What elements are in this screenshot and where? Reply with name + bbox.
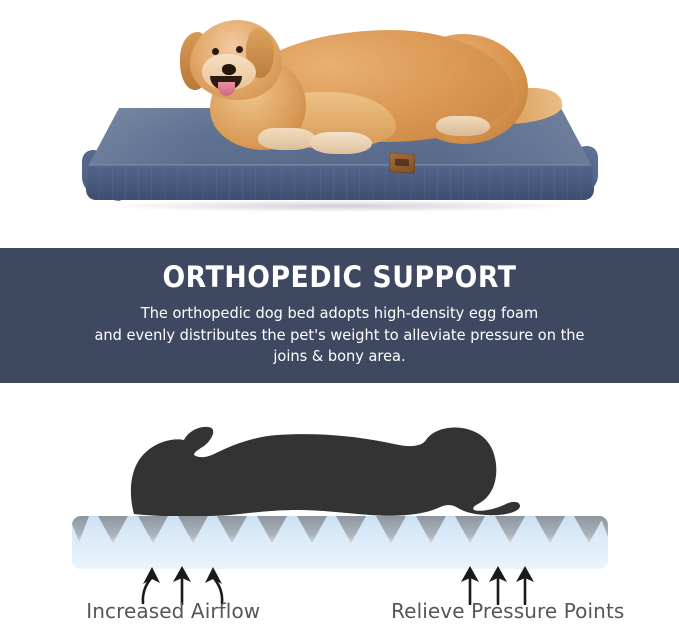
label-relieve-pressure-points: Relieve Pressure Points	[341, 599, 679, 631]
dog-silhouette-icon	[122, 418, 562, 518]
product-photo-section	[0, 0, 679, 248]
banner-line-1: The orthopedic dog bed adopts high-densi…	[62, 303, 618, 325]
orthopedic-support-banner: ORTHOPEDIC SUPPORT The orthopedic dog be…	[0, 248, 679, 383]
bed-front-panel	[86, 166, 594, 200]
dog-right-eye	[236, 46, 243, 53]
foam-cross-section-diagram: Increased Airflow Relieve Pressure Point…	[0, 383, 679, 633]
dog-nose	[222, 64, 236, 75]
banner-line-2: and evenly distributes the pet's weight …	[62, 325, 618, 347]
dog-front-paw-right	[310, 132, 372, 154]
banner-title: ORTHOPEDIC SUPPORT	[68, 262, 612, 294]
foam-teeth-pattern	[72, 516, 608, 546]
golden-retriever-photo	[150, 6, 550, 166]
dog-front-paw-left	[258, 128, 316, 150]
banner-description: The orthopedic dog bed adopts high-densi…	[62, 303, 618, 368]
banner-line-3: joins & bony area.	[62, 346, 618, 368]
egg-crate-foam-layer	[72, 516, 608, 569]
dog-rear-paw	[436, 116, 490, 136]
label-increased-airflow: Increased Airflow	[0, 599, 341, 631]
diagram-labels: Increased Airflow Relieve Pressure Point…	[0, 599, 679, 631]
dog-left-eye	[212, 48, 219, 55]
product-photo-stage	[0, 0, 679, 248]
